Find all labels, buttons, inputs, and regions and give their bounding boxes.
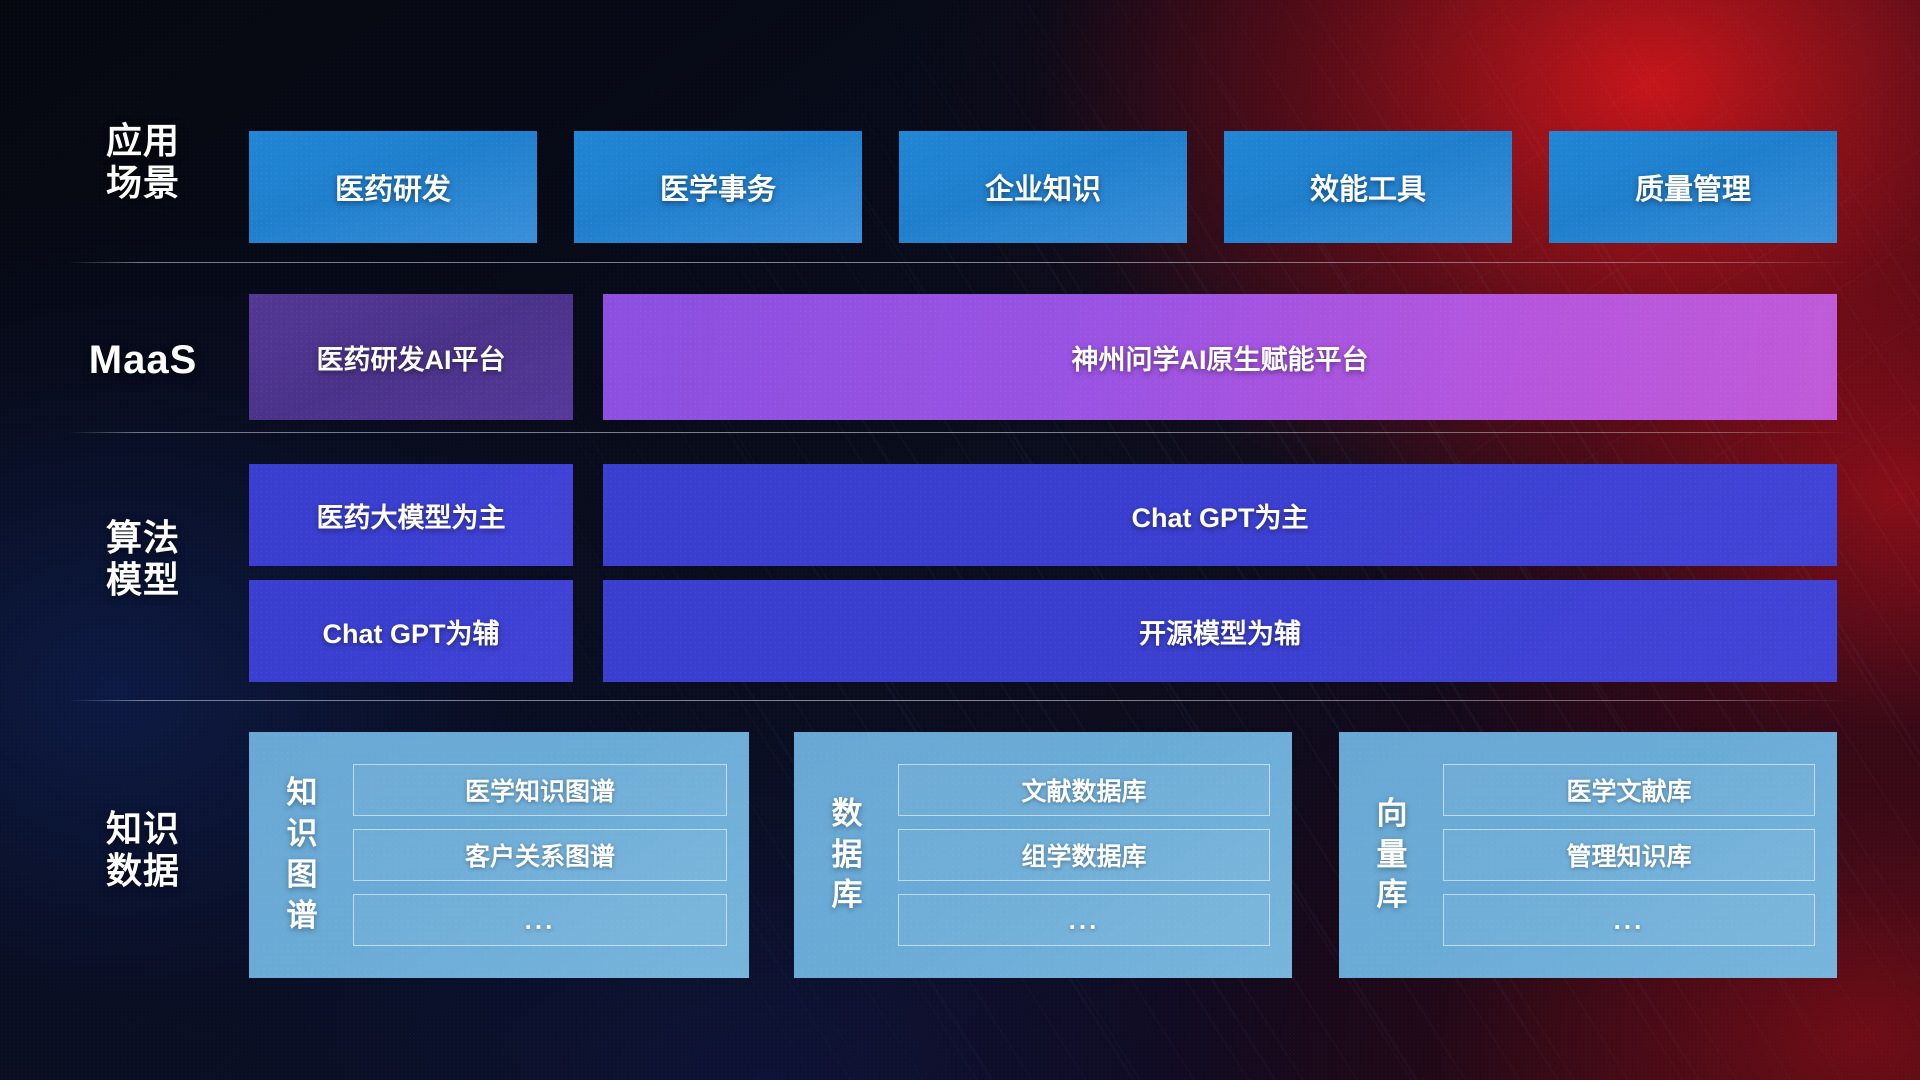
knowledge-group-items: 文献数据库 组学数据库 ... <box>890 764 1292 946</box>
knowledge-group-database[interactable]: 数 据 库 文献数据库 组学数据库 ... <box>794 732 1292 978</box>
knowledge-item-more[interactable]: ... <box>353 894 727 946</box>
algo-box-chatgpt-main[interactable]: Chat GPT为主 <box>603 464 1837 566</box>
title-char: 数 <box>804 794 890 835</box>
algo-label: Chat GPT为主 <box>1131 496 1308 535</box>
row-label-line: 数据 <box>68 850 218 892</box>
knowledge-item-more[interactable]: ... <box>898 894 1270 946</box>
algo-box-opensource-aux[interactable]: 开源模型为辅 <box>603 580 1837 682</box>
app-scenario-box-3[interactable]: 企业知识 <box>899 131 1187 243</box>
app-scenario-box-4[interactable]: 效能工具 <box>1224 131 1512 243</box>
diagram-canvas: 应用 场景 医药研发 医学事务 企业知识 效能工具 质量管理 MaaS 医药研发… <box>0 0 1920 1080</box>
row-label-line: 知识 <box>68 808 218 850</box>
algo-label: 开源模型为辅 <box>1139 612 1301 651</box>
title-char: 知 <box>259 773 345 814</box>
app-scenario-box-1[interactable]: 医药研发 <box>249 131 537 243</box>
algo-label: Chat GPT为辅 <box>322 612 499 651</box>
knowledge-item[interactable]: 医学知识图谱 <box>353 764 727 816</box>
app-scenario-label: 企业知识 <box>985 166 1101 208</box>
row-label-line: 场景 <box>68 162 218 204</box>
row-label-line: 应用 <box>68 120 218 162</box>
title-char: 向 <box>1349 794 1435 835</box>
title-char: 图 <box>259 855 345 896</box>
title-char: 识 <box>259 814 345 855</box>
knowledge-group-items: 医学文献库 管理知识库 ... <box>1435 764 1837 946</box>
row-label-line: MaaS <box>68 337 218 384</box>
app-scenario-label: 医学事务 <box>660 166 776 208</box>
algo-box-chatgpt-aux[interactable]: Chat GPT为辅 <box>249 580 573 682</box>
title-char: 谱 <box>259 896 345 937</box>
row-label-maas: MaaS <box>68 337 218 384</box>
knowledge-group-items: 医学知识图谱 客户关系图谱 ... <box>345 764 749 946</box>
divider-2 <box>68 432 1852 433</box>
maas-label: 医药研发AI平台 <box>317 338 506 377</box>
row-label-application-scenarios: 应用 场景 <box>68 120 218 205</box>
title-char: 据 <box>804 835 890 876</box>
app-scenario-box-2[interactable]: 医学事务 <box>574 131 862 243</box>
knowledge-item[interactable]: 医学文献库 <box>1443 764 1815 816</box>
knowledge-group-title: 知 识 图 谱 <box>259 773 345 937</box>
knowledge-item[interactable]: 客户关系图谱 <box>353 829 727 881</box>
app-scenario-label: 质量管理 <box>1635 166 1751 208</box>
knowledge-group-title: 数 据 库 <box>804 794 890 917</box>
maas-box-shenzhou-platform[interactable]: 神州问学AI原生赋能平台 <box>603 294 1837 420</box>
knowledge-item[interactable]: 组学数据库 <box>898 829 1270 881</box>
knowledge-item[interactable]: 文献数据库 <box>898 764 1270 816</box>
maas-label: 神州问学AI原生赋能平台 <box>1072 338 1369 377</box>
algo-box-pharma-main[interactable]: 医药大模型为主 <box>249 464 573 566</box>
knowledge-group-vector-store[interactable]: 向 量 库 医学文献库 管理知识库 ... <box>1339 732 1837 978</box>
algo-label: 医药大模型为主 <box>317 496 506 535</box>
diagram-content: 应用 场景 医药研发 医学事务 企业知识 效能工具 质量管理 MaaS 医药研发… <box>0 0 1920 1080</box>
title-char: 库 <box>1349 875 1435 916</box>
row-label-line: 模型 <box>68 559 218 601</box>
app-scenario-label: 效能工具 <box>1310 166 1426 208</box>
divider-1 <box>68 262 1852 263</box>
title-char: 库 <box>804 875 890 916</box>
knowledge-item[interactable]: 管理知识库 <box>1443 829 1815 881</box>
row-label-line: 算法 <box>68 517 218 559</box>
row-label-algorithm-models: 算法 模型 <box>68 517 218 602</box>
row-label-knowledge-data: 知识 数据 <box>68 808 218 893</box>
knowledge-item-more[interactable]: ... <box>1443 894 1815 946</box>
app-scenario-box-5[interactable]: 质量管理 <box>1549 131 1837 243</box>
knowledge-group-knowledge-graph[interactable]: 知 识 图 谱 医学知识图谱 客户关系图谱 ... <box>249 732 749 978</box>
app-scenario-label: 医药研发 <box>335 166 451 208</box>
knowledge-group-title: 向 量 库 <box>1349 794 1435 917</box>
divider-3 <box>68 700 1852 701</box>
maas-box-pharma-platform[interactable]: 医药研发AI平台 <box>249 294 573 420</box>
title-char: 量 <box>1349 835 1435 876</box>
